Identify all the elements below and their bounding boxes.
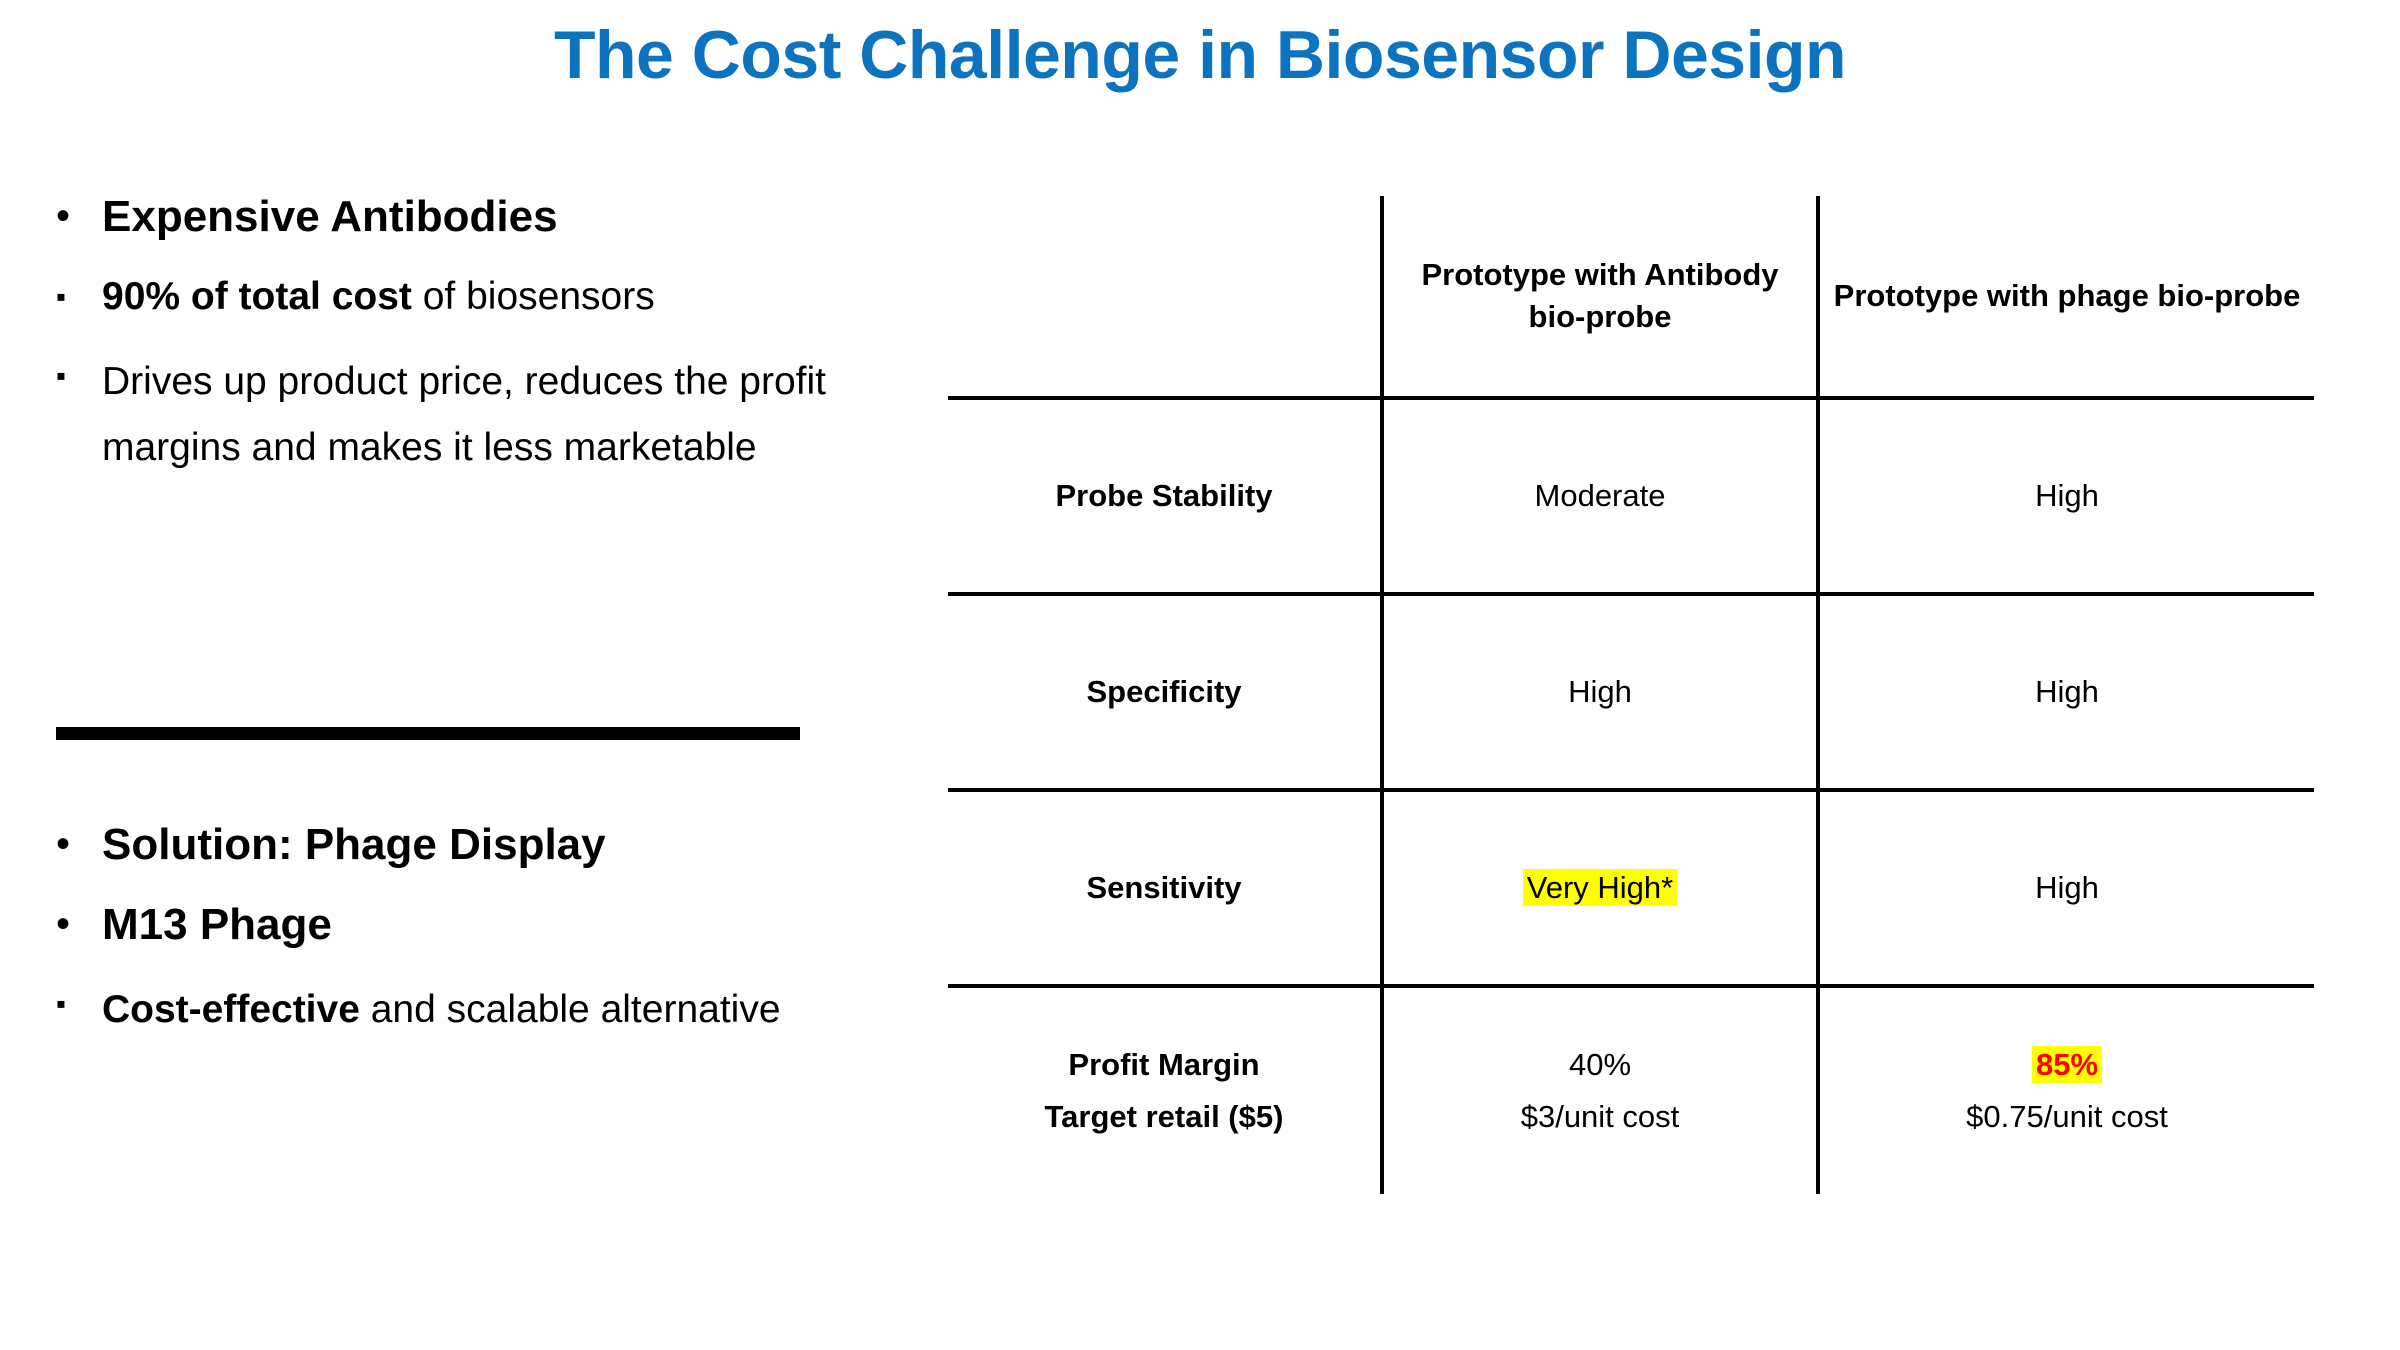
cell-sensitivity-antibody: Very High* [1382, 790, 1818, 986]
row-label-profit-margin: Profit Margin Target retail ($5) [948, 986, 1382, 1194]
cell-line-1: 85% [1830, 1044, 2304, 1086]
bullet-label: 90% of total cost of biosensors [102, 270, 906, 324]
bullet-drives-up-price: ▪ Drives up product price, reduces the p… [56, 349, 906, 480]
round-bullet-icon: • [56, 898, 102, 952]
page-title: The Cost Challenge in Biosensor Design [0, 18, 2400, 93]
comparison-table: Prototype with Antibody bio-probe Protot… [948, 196, 2314, 1194]
cell-profit-margin-antibody: 40% $3/unit cost [1382, 986, 1818, 1194]
cell-specificity-phage: High [1818, 594, 2314, 790]
table-row: Probe Stability Moderate High [948, 398, 2314, 594]
table-row: Sensitivity Very High* High [948, 790, 2314, 986]
bullet-90-percent-cost: ▪ 90% of total cost of biosensors [56, 270, 906, 324]
section-divider [56, 727, 800, 740]
table-header: Prototype with Antibody bio-probe Protot… [948, 196, 2314, 398]
row-label-line-1: Profit Margin [958, 1044, 1370, 1086]
bullet-m13-phage: • M13 Phage [56, 898, 906, 952]
table-header-phage: Prototype with phage bio-probe [1818, 196, 2314, 398]
table-header-antibody: Prototype with Antibody bio-probe [1382, 196, 1818, 398]
table-row: Specificity High High [948, 594, 2314, 790]
bullet-rest: and scalable alternative [360, 988, 781, 1031]
table-header-row: Prototype with Antibody bio-probe Protot… [948, 196, 2314, 398]
table-body: Probe Stability Moderate High Specificit… [948, 398, 2314, 1194]
cell-line-2: $3/unit cost [1394, 1096, 1806, 1138]
square-bullet-icon: ▪ [56, 270, 102, 323]
bullet-cost-effective: ▪ Cost-effective and scalable alternativ… [56, 977, 906, 1043]
round-bullet-icon: • [56, 818, 102, 872]
cell-profit-margin-phage: 85% $0.75/unit cost [1818, 986, 2314, 1194]
cell-specificity-antibody: High [1382, 594, 1818, 790]
bullet-expensive-antibodies: • Expensive Antibodies [56, 190, 906, 244]
highlight-badge-red: 85% [2032, 1046, 2102, 1083]
cell-line-1: 40% [1394, 1044, 1806, 1086]
bullet-label: Expensive Antibodies [102, 190, 906, 244]
cell-line-2: $0.75/unit cost [1830, 1096, 2304, 1138]
square-bullet-icon: ▪ [56, 349, 102, 402]
round-bullet-icon: • [56, 190, 102, 244]
row-label-sensitivity: Sensitivity [948, 790, 1382, 986]
square-bullet-icon: ▪ [56, 977, 102, 1030]
cell-probe-stability-phage: High [1818, 398, 2314, 594]
bullet-label: M13 Phage [102, 898, 906, 952]
bullet-solution-phage-display: • Solution: Phage Display [56, 818, 906, 872]
bullet-bold-lead: 90% of total cost [102, 275, 412, 318]
cell-sensitivity-phage: High [1818, 790, 2314, 986]
cell-probe-stability-antibody: Moderate [1382, 398, 1818, 594]
highlight-badge: Very High* [1523, 869, 1677, 906]
bullet-label: Drives up product price, reduces the pro… [102, 349, 906, 480]
row-label-probe-stability: Probe Stability [948, 398, 1382, 594]
row-label-specificity: Specificity [948, 594, 1382, 790]
table-row: Profit Margin Target retail ($5) 40% $3/… [948, 986, 2314, 1194]
bullet-bold-lead: Cost-effective [102, 988, 360, 1031]
left-content-panel: • Expensive Antibodies ▪ 90% of total co… [56, 190, 906, 507]
row-label-line-2: Target retail ($5) [958, 1096, 1370, 1138]
bullet-rest: of biosensors [412, 275, 655, 318]
bullet-label: Solution: Phage Display [102, 818, 906, 872]
table-header-corner [948, 196, 1382, 398]
bullet-label: Cost-effective and scalable alternative [102, 977, 906, 1043]
left-content-panel-solution: • Solution: Phage Display • M13 Phage ▪ … [56, 818, 906, 1069]
